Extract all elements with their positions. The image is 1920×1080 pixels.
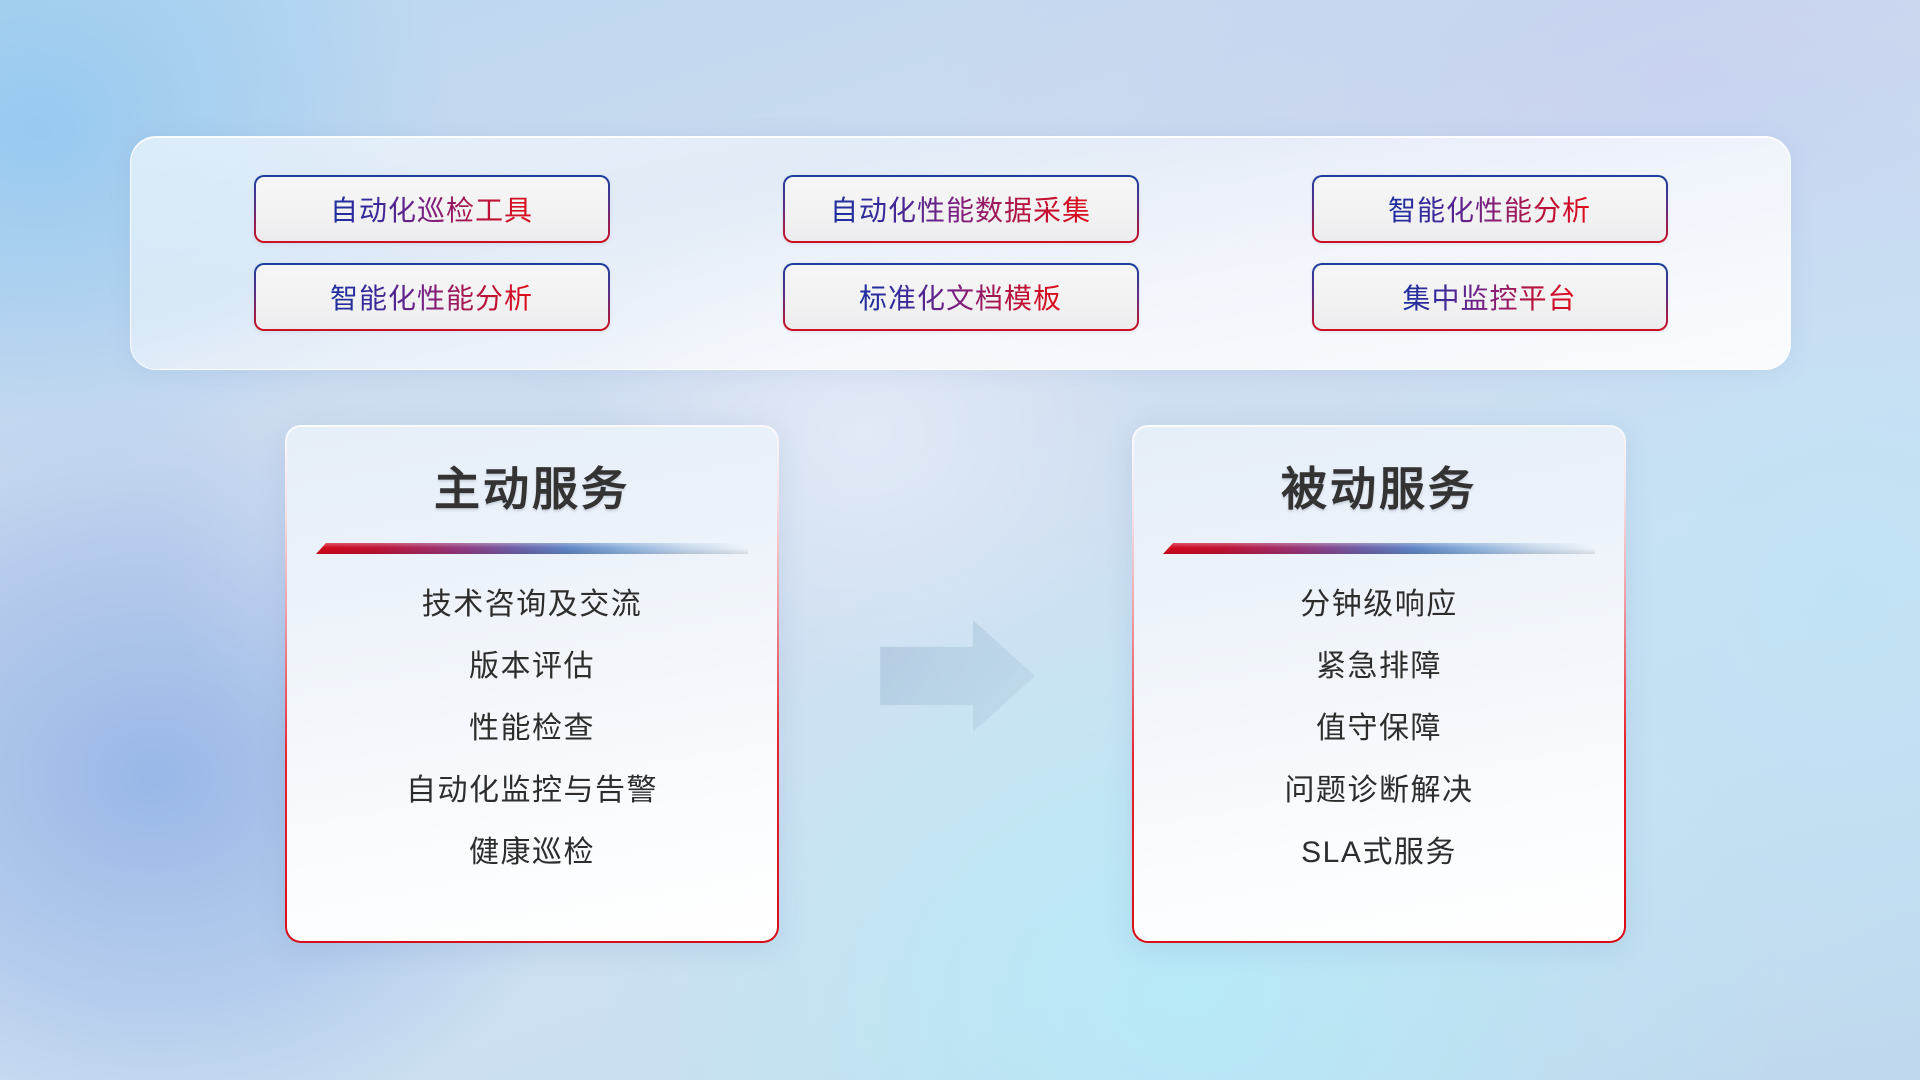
capability-pill-surface: 智能化性能分析 bbox=[1314, 177, 1666, 241]
title-divider bbox=[316, 543, 748, 554]
service-item: 健康巡检 bbox=[469, 836, 595, 869]
capability-pill[interactable]: 集中监控平台 bbox=[1312, 263, 1668, 331]
service-item-list: 分钟级响应 紧急排障 值守保障 问题诊断解决 SLA式服务 bbox=[1134, 588, 1624, 869]
service-card-active[interactable]: 主动服务 技术咨询及交流 版本评估 性能检查 自动化监控与告警 健康巡检 bbox=[285, 425, 779, 943]
capabilities-panel: 自动化巡检工具 自动化性能数据采集 智能化性能分析 智能化性能分析 bbox=[130, 136, 1791, 370]
service-item: 分钟级响应 bbox=[1300, 588, 1458, 621]
capability-pill[interactable]: 智能化性能分析 bbox=[254, 263, 610, 331]
title-divider bbox=[1163, 543, 1595, 554]
capability-pill-surface: 标准化文档模板 bbox=[785, 265, 1137, 329]
service-card-title: 主动服务 bbox=[434, 453, 630, 519]
capability-pill-surface: 智能化性能分析 bbox=[256, 265, 608, 329]
capability-pill[interactable]: 自动化性能数据采集 bbox=[783, 175, 1139, 243]
service-item: 技术咨询及交流 bbox=[422, 588, 643, 621]
capability-pill-label: 自动化性能数据采集 bbox=[830, 189, 1091, 229]
service-item: 问题诊断解决 bbox=[1285, 774, 1474, 807]
slide-stage: 自动化巡检工具 自动化性能数据采集 智能化性能分析 智能化性能分析 bbox=[0, 0, 1920, 1080]
capabilities-row-1: 自动化巡检工具 自动化性能数据采集 智能化性能分析 bbox=[131, 175, 1790, 243]
capability-pill-surface: 自动化巡检工具 bbox=[256, 177, 608, 241]
capability-pill-label: 标准化文档模板 bbox=[859, 277, 1062, 317]
capability-pill[interactable]: 标准化文档模板 bbox=[783, 263, 1139, 331]
title-divider-shade bbox=[316, 543, 748, 554]
service-item: 版本评估 bbox=[469, 650, 595, 683]
service-item: 性能检查 bbox=[469, 712, 595, 745]
capability-pill-label: 智能化性能分析 bbox=[1388, 189, 1591, 229]
capability-pill-surface: 集中监控平台 bbox=[1314, 265, 1666, 329]
service-item: 值守保障 bbox=[1316, 712, 1442, 745]
capability-pill-label: 集中监控平台 bbox=[1402, 277, 1576, 317]
service-item: 紧急排障 bbox=[1316, 650, 1442, 683]
arrow-right-icon bbox=[880, 620, 1035, 732]
service-card-passive[interactable]: 被动服务 分钟级响应 紧急排障 值守保障 问题诊断解决 SLA式服务 bbox=[1132, 425, 1626, 943]
service-item-list: 技术咨询及交流 版本评估 性能检查 自动化监控与告警 健康巡检 bbox=[287, 588, 777, 869]
service-item: 自动化监控与告警 bbox=[406, 774, 658, 807]
capabilities-row-2: 智能化性能分析 标准化文档模板 集中监控平台 bbox=[131, 263, 1790, 331]
service-card-title: 被动服务 bbox=[1281, 453, 1477, 519]
capability-pill[interactable]: 自动化巡检工具 bbox=[254, 175, 610, 243]
service-card-surface: 被动服务 分钟级响应 紧急排障 值守保障 问题诊断解决 SLA式服务 bbox=[1134, 427, 1624, 941]
service-item: SLA式服务 bbox=[1301, 836, 1457, 869]
capability-pill-surface: 自动化性能数据采集 bbox=[785, 177, 1137, 241]
service-card-surface: 主动服务 技术咨询及交流 版本评估 性能检查 自动化监控与告警 健康巡检 bbox=[287, 427, 777, 941]
title-divider-shade bbox=[1163, 543, 1595, 554]
capability-pill[interactable]: 智能化性能分析 bbox=[1312, 175, 1668, 243]
capability-pill-label: 智能化性能分析 bbox=[330, 277, 533, 317]
capability-pill-label: 自动化巡检工具 bbox=[330, 189, 533, 229]
